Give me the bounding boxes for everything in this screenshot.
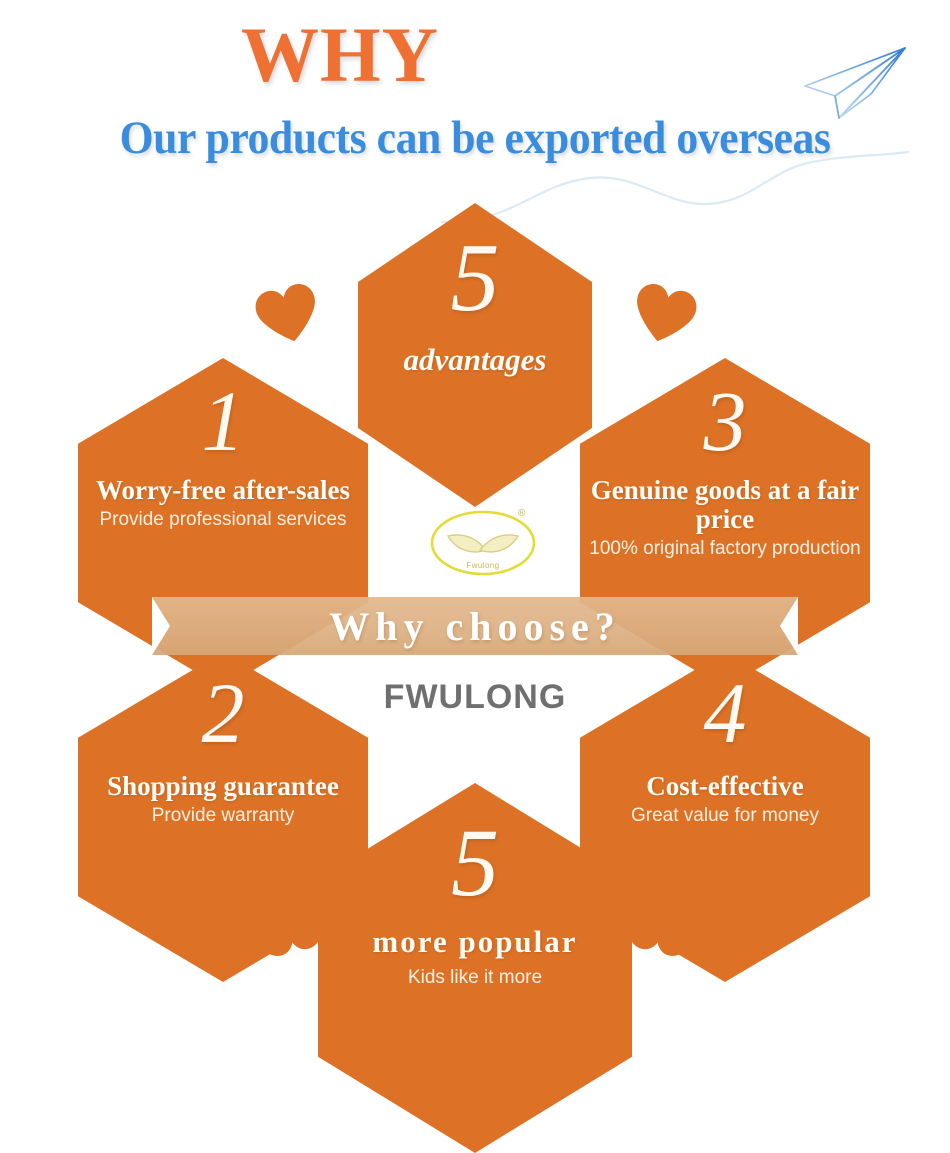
registered-trademark-icon: ®	[518, 508, 525, 519]
hexagon-title: more popular	[372, 925, 577, 958]
hexagon-title: Worry-free after-sales	[96, 476, 350, 505]
hexagon-subtitle: Great value for money	[631, 804, 819, 828]
hexagon-title: advantages	[404, 343, 547, 376]
paper-plane-icon	[795, 40, 915, 125]
hexagon-top-advantages[interactable]: 5 advantages	[358, 203, 592, 507]
page-title-why: WHY	[0, 14, 680, 96]
hexagon-number: 3	[704, 378, 747, 464]
brand-name: FWULONG	[0, 678, 950, 717]
hexagon-subtitle: 100% original factory production	[589, 537, 860, 561]
svg-text:Fwulong: Fwulong	[466, 561, 499, 570]
infographic-canvas: WHY Our products can be exported oversea…	[0, 0, 950, 1090]
hexagon-title: Shopping guarantee	[107, 772, 339, 801]
hexagon-subtitle: Provide professional services	[99, 508, 346, 532]
hexagon-title: Genuine goods at a fair price	[586, 476, 864, 534]
hexagon-number: 1	[202, 378, 245, 464]
hexagon-subtitle: Kids like it more	[408, 966, 542, 990]
ribbon-label: Why choose?	[152, 600, 798, 652]
hexagon-number: 5	[451, 815, 499, 911]
hexagon-number: 5	[451, 229, 500, 327]
hexagon-subtitle: Provide warranty	[152, 804, 295, 828]
hexagon-title: Cost-effective	[646, 772, 803, 801]
header-block: WHY Our products can be exported oversea…	[0, 0, 950, 200]
